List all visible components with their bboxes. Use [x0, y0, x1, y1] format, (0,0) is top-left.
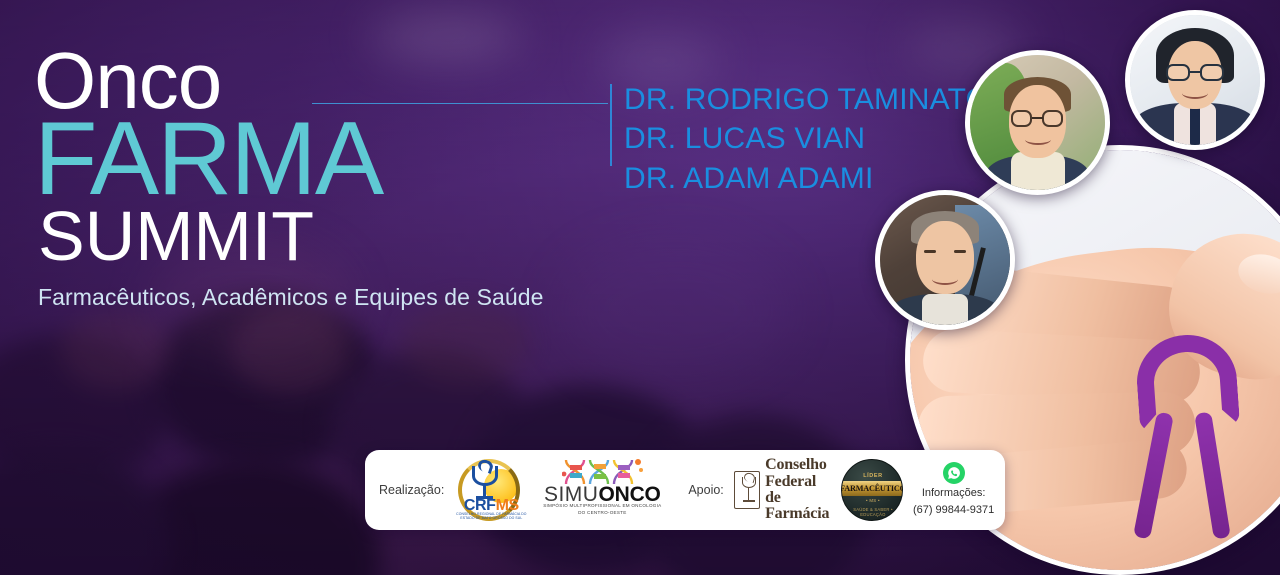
realizacao-label: Realização: — [379, 483, 444, 497]
crf-subtitle: CONSELHO REGIONAL DE FARMÁCIA DO ESTADO … — [454, 512, 528, 521]
lider-bottom-text: SAÚDE & SABER • EDUCAÇÃO — [842, 507, 903, 517]
lider-farmaceutico-badge: LÍDER FARMACÊUTICO • MS • SAÚDE & SABER … — [841, 459, 903, 521]
simuonco-wordmark: SIMUONCO — [538, 484, 666, 505]
event-banner: Onco FARMA SUMMIT Farmacêuticos, Acadêmi… — [0, 0, 1280, 575]
simuonco-tagline: SIMPÓSIO MULTIPROFISSIONAL EM ONCOLOGIA … — [538, 503, 666, 517]
title-line-farma: FARMA — [34, 112, 654, 208]
cff-emblem-icon — [734, 471, 760, 509]
whatsapp-icon[interactable] — [943, 462, 965, 484]
lider-mid-text: • MS • — [842, 498, 903, 503]
speaker-name: DR. RODRIGO TAMINATO — [624, 80, 989, 119]
apoio-label: Apoio: — [688, 483, 723, 497]
speaker-portrait-1 — [965, 50, 1110, 195]
event-subtitle: Farmacêuticos, Acadêmicos e Equipes de S… — [38, 284, 654, 311]
simuonco-logo: SIMUONCO SIMPÓSIO MULTIPROFISSIONAL EM O… — [538, 459, 666, 521]
crf-ms-logo: CRFMS CONSELHO REGIONAL DE FARMÁCIA DO E… — [454, 458, 528, 522]
sponsor-logo-bar: Realização: CRFMS CONSELHO REGIONAL DE F… — [365, 450, 1005, 530]
contact-info[interactable]: Informações: (67) 99844-9371 — [913, 462, 994, 518]
cff-wordmark: Conselho Federal de Farmácia — [765, 457, 831, 522]
speaker-portrait-2 — [1125, 10, 1265, 150]
conselho-federal-farmacia-logo: Conselho Federal de Farmácia — [734, 457, 831, 522]
dna-helix-icon — [562, 458, 644, 486]
speaker-portrait-3 — [875, 190, 1015, 330]
lider-top-text: LÍDER — [842, 473, 903, 479]
lider-band: FARMACÊUTICO — [841, 481, 903, 496]
event-title-block: Onco FARMA SUMMIT Farmacêuticos, Acadêmi… — [34, 44, 654, 311]
contact-phone[interactable]: (67) 99844-9371 — [913, 503, 994, 518]
contact-label: Informações: — [922, 486, 986, 501]
purple-ribbon-icon — [1112, 335, 1280, 570]
